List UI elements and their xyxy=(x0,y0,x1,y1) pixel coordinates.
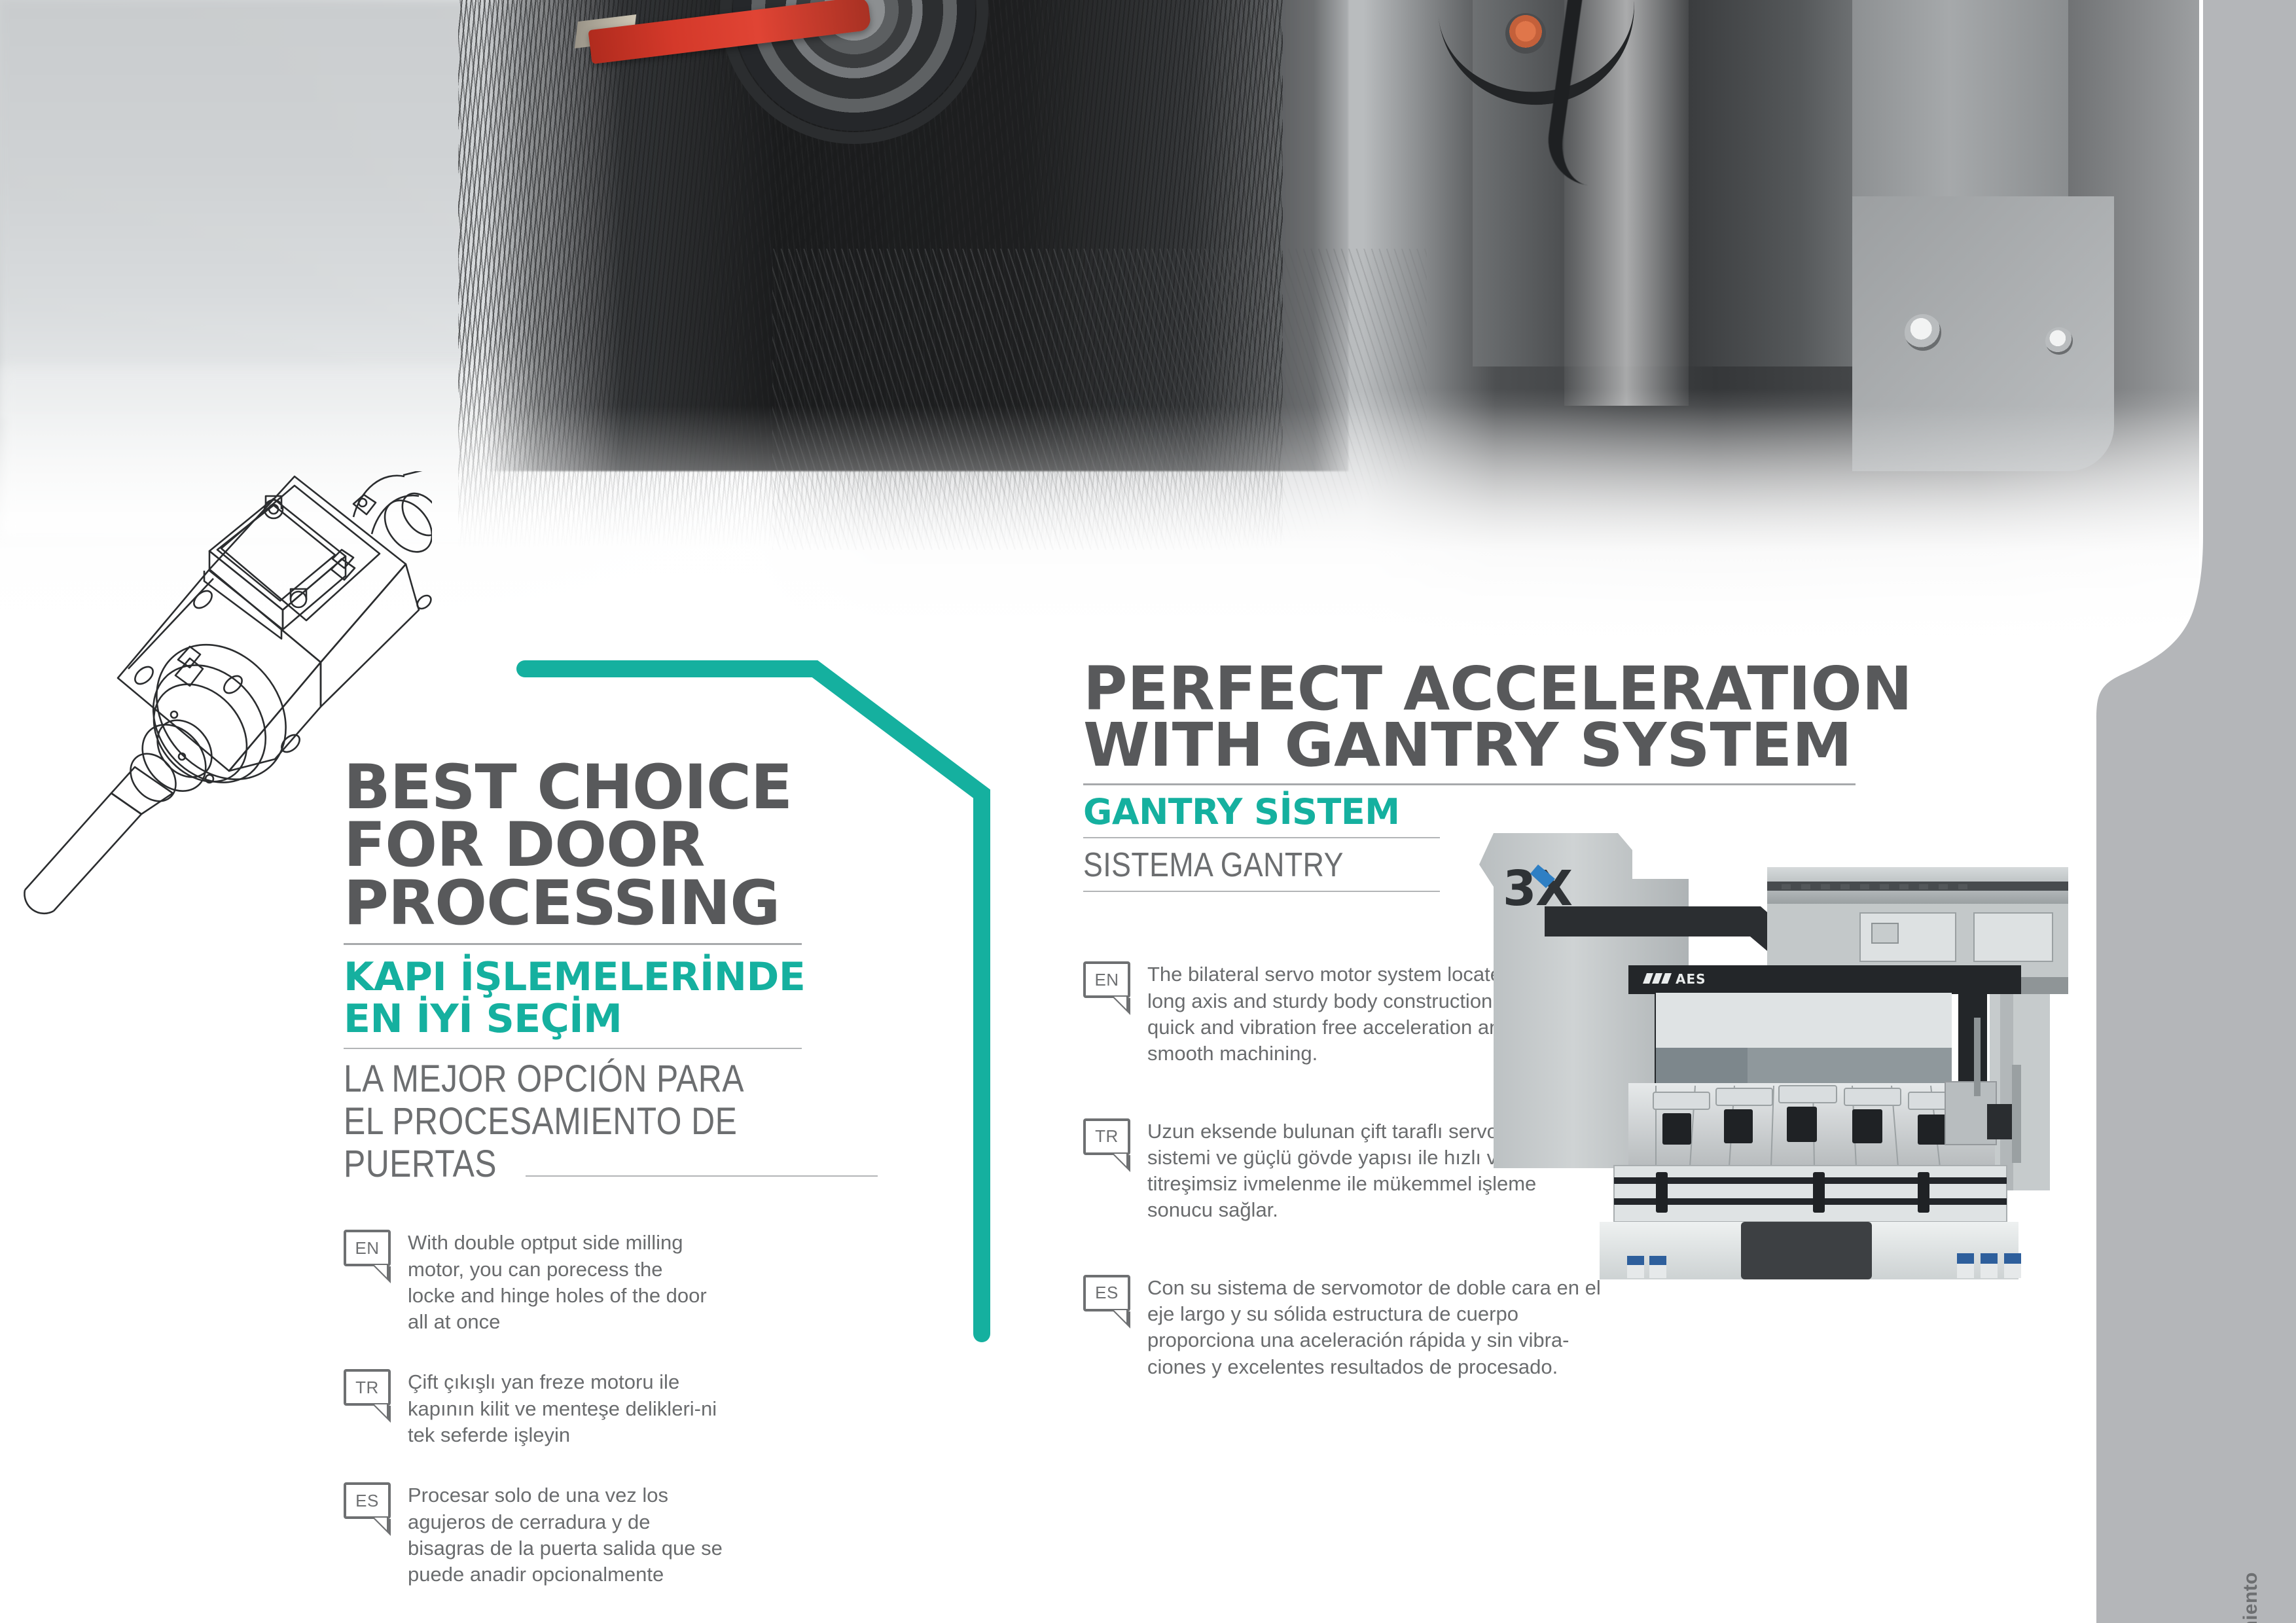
left-heading-tr: KAPI İŞLEMELERİNDE EN İYİ SEÇİM xyxy=(344,957,880,1040)
lang-tag-tr-icon: TR xyxy=(344,1369,391,1406)
svg-text:AES: AES xyxy=(1676,971,1706,987)
right-heading-en-line-2: WITH GANTRY SYSTEM xyxy=(1083,717,2065,774)
left-rule-2 xyxy=(344,1048,802,1049)
sidebar-label-en: Processing Unit xyxy=(2193,1572,2215,1623)
left-rule-1 xyxy=(344,943,802,945)
left-rule-3 xyxy=(526,1175,878,1177)
machine-stud-a xyxy=(1905,314,1941,351)
sidebar-label-tr: İşleme Ünitesi xyxy=(2215,1572,2238,1623)
sidebar-label-es: Unidad De Procesamiento xyxy=(2239,1572,2262,1623)
left-block-tr-text: Çift çıkışlı yan freze motoru ile kapını… xyxy=(408,1369,728,1448)
left-block-en-text: With double optput side milling motor, y… xyxy=(408,1230,715,1335)
left-heading-es-line-2: EL PROCESAMIENTO DE xyxy=(344,1101,805,1143)
left-heading-en-line-1: BEST CHOICE xyxy=(344,759,880,817)
right-block-es: ES Con su sistema de servomotor de doble… xyxy=(1083,1275,2065,1380)
right-section-sidebar: Processing Unit İşleme Ünitesi Unidad De… xyxy=(2073,0,2296,1623)
right-rule-3 xyxy=(1083,891,1440,892)
gantry-machine-photo: 3 X xyxy=(1460,821,2068,1279)
lang-tag-es-icon: ES xyxy=(344,1482,391,1519)
left-heading-es-line-1: LA MEJOR OPCIÓN PARA xyxy=(344,1058,805,1101)
lang-tag-en-icon-right: EN xyxy=(1083,961,1130,998)
left-block-es: ES Procesar solo de una vez los agujeros… xyxy=(344,1482,880,1588)
lang-tag-en-icon: EN xyxy=(344,1230,391,1266)
workshop-background-blur xyxy=(0,0,537,419)
left-heading-en-line-3: PROCESSING xyxy=(344,875,880,933)
left-block-tr: TR Çift çıkışlı yan freze motoru ile kap… xyxy=(344,1369,880,1448)
left-heading-es-line-3: PUERTAS xyxy=(344,1143,497,1186)
right-heading-en-line-1: PERFECT ACCELERATION xyxy=(1083,661,2065,717)
left-heading-es: LA MEJOR OPCIÓN PARA EL PROCESAMIENTO DE… xyxy=(344,1058,880,1196)
right-rule-1 xyxy=(1083,783,1856,785)
left-heading-tr-line-2: EN İYİ SEÇİM xyxy=(344,999,880,1041)
left-block-en: EN With double optput side milling motor… xyxy=(344,1230,880,1335)
left-heading-en-line-2: FOR DOOR xyxy=(344,817,880,874)
svg-text:3: 3 xyxy=(1503,861,1535,917)
right-rule-2 xyxy=(1083,837,1440,838)
sidebar-section-label: Processing Unit İşleme Ünitesi Unidad De… xyxy=(2193,1572,2262,1623)
lang-tag-tr-icon-right: TR xyxy=(1083,1118,1130,1155)
lang-tag-es-icon-right: ES xyxy=(1083,1275,1130,1311)
left-feature-column: BEST CHOICE FOR DOOR PROCESSING KAPI İŞL… xyxy=(344,759,880,1588)
left-block-es-text: Procesar solo de una vez los agujeros de… xyxy=(408,1482,728,1588)
brochure-page: BEST CHOICE FOR DOOR PROCESSING KAPI İŞL… xyxy=(0,0,2296,1623)
left-heading-tr-line-1: KAPI İŞLEMELERİNDE xyxy=(344,957,880,999)
right-block-es-text: Con su sistema de servomotor de doble ca… xyxy=(1147,1275,1605,1380)
hose-fitting-orange xyxy=(1505,13,1546,54)
right-heading-en: PERFECT ACCELERATION WITH GANTRY SYSTEM xyxy=(1083,661,2065,774)
machine-stud-b xyxy=(2045,327,2073,355)
left-heading-en: BEST CHOICE FOR DOOR PROCESSING xyxy=(344,759,880,933)
